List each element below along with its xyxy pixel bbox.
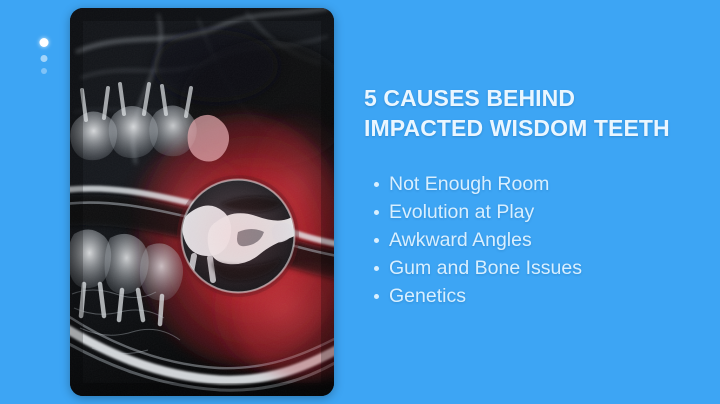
progress-dot-2[interactable] (41, 55, 48, 62)
progress-dot-3[interactable] (41, 68, 47, 74)
slide-progress-dots[interactable] (36, 38, 52, 84)
title-line-2: Impacted Wisdom Teeth (364, 113, 694, 143)
slide-root: 5 Causes Behind Impacted Wisdom Teeth No… (0, 0, 720, 404)
causes-list: Not Enough Room Evolution at Play Awkwar… (371, 170, 582, 310)
title-line-1: 5 Causes Behind (364, 83, 694, 113)
dental-xray-image (70, 8, 334, 396)
page-title: 5 Causes Behind Impacted Wisdom Teeth (364, 83, 694, 143)
progress-dot-active[interactable] (40, 38, 49, 47)
list-item: Genetics (371, 282, 582, 310)
list-item: Awkward Angles (371, 226, 582, 254)
text-column: 5 Causes Behind Impacted Wisdom Teeth No… (363, 0, 703, 404)
list-item: Gum and Bone Issues (371, 254, 582, 282)
list-item: Not Enough Room (371, 170, 582, 198)
list-item: Evolution at Play (371, 198, 582, 226)
